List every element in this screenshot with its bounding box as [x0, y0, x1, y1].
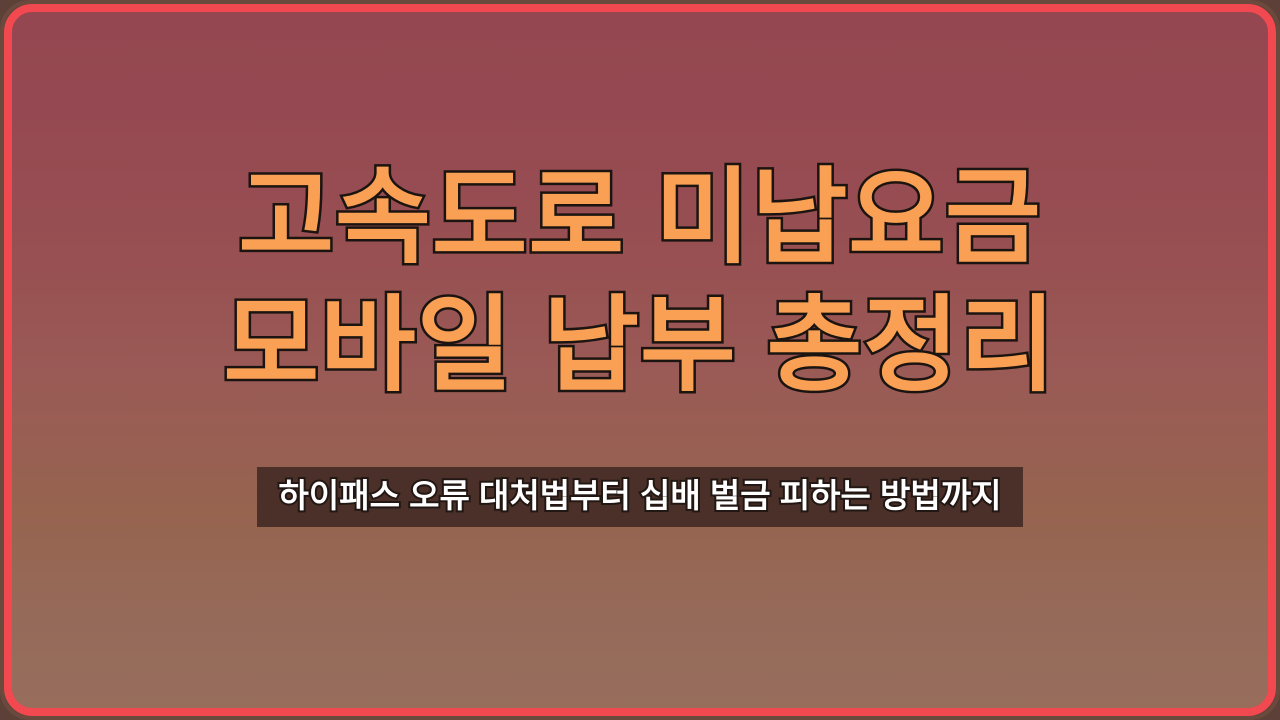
- subtitle-wrap: 하이패스 오류 대처법부터 십배 벌금 피하는 방법까지: [11, 467, 1269, 527]
- subtitle-bar: 하이패스 오류 대처법부터 십배 벌금 피하는 방법까지: [257, 467, 1024, 527]
- card-content: 고속도로 미납요금 모바일 납부 총정리 하이패스 오류 대처법부터 십배 벌금…: [11, 11, 1269, 709]
- thumbnail-card: 고속도로 미납요금 모바일 납부 총정리 하이패스 오류 대처법부터 십배 벌금…: [0, 0, 1280, 720]
- subtitle-text: 하이패스 오류 대처법부터 십배 벌금 피하는 방법까지: [279, 477, 1002, 514]
- title-line-2: 모바일 납부 총정리: [11, 282, 1269, 410]
- title-block: 고속도로 미납요금 모바일 납부 총정리: [11, 154, 1269, 410]
- title-line-1: 고속도로 미납요금: [11, 154, 1269, 282]
- card-background: 고속도로 미납요금 모바일 납부 총정리 하이패스 오류 대처법부터 십배 벌금…: [11, 11, 1269, 709]
